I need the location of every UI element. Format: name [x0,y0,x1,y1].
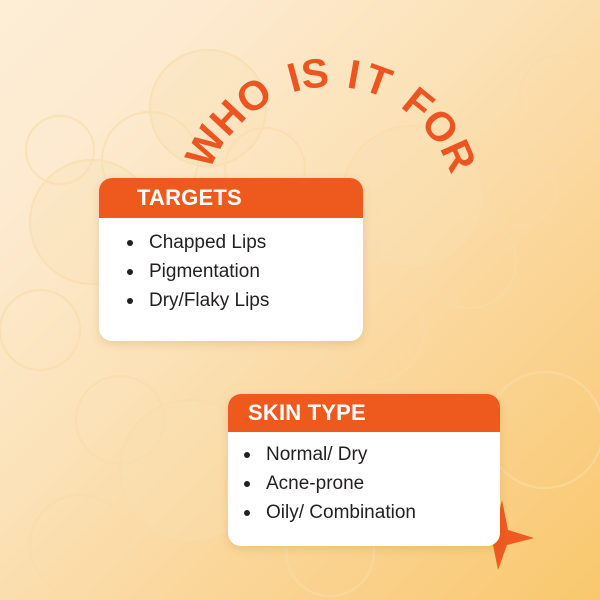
card-skin-type: SKIN TYPE Normal/ Dry Acne-prone Oily/ C… [228,394,500,546]
list-item-label: Normal/ Dry [266,440,500,469]
arc-heading-letter: O [414,102,466,152]
arc-heading-letter: I [345,54,363,96]
list-item: Acne-prone [244,469,500,498]
bullet-icon [127,240,133,246]
list-item: Dry/Flaky Lips [127,286,363,315]
arc-heading-letter: R [433,134,482,178]
list-item-label: Dry/Flaky Lips [149,286,363,315]
list-item-label: Oily/ Combination [266,498,500,527]
arc-heading-letter: O [229,70,278,122]
card-targets-title: TARGETS [137,185,242,211]
list-item-label: Pigmentation [149,257,363,286]
card-skin-type-body: Normal/ Dry Acne-prone Oily/ Combination [228,432,500,535]
arc-heading-letter: H [203,93,253,143]
card-targets: TARGETS Chapped Lips Pigmentation Dry/Fl… [99,178,363,341]
card-skin-type-header: SKIN TYPE [228,394,500,432]
poster-canvas: WHOISITFOR TARGETS Chapped Lips Pigmenta… [0,0,600,600]
arc-heading-letter: T [359,58,397,105]
list-item-label: Acne-prone [266,469,500,498]
arc-heading-letter: S [300,52,331,96]
list-item: Pigmentation [127,257,363,286]
card-skin-type-title: SKIN TYPE [248,400,366,426]
card-targets-header: TARGETS [99,178,363,218]
list-item-label: Chapped Lips [149,228,363,257]
list-item: Chapped Lips [127,228,363,257]
bullet-icon [244,510,250,516]
bullet-icon [127,298,133,304]
card-targets-list: Chapped Lips Pigmentation Dry/Flaky Lips [127,228,363,315]
arc-heading-letter: W [179,121,233,174]
bullet-icon [244,452,250,458]
card-targets-body: Chapped Lips Pigmentation Dry/Flaky Lips [99,218,363,325]
list-item: Oily/ Combination [244,498,500,527]
bullet-icon [127,269,133,275]
bullet-icon [244,481,250,487]
card-skin-type-list: Normal/ Dry Acne-prone Oily/ Combination [244,440,500,527]
arc-heading-letter: F [395,80,440,128]
list-item: Normal/ Dry [244,440,500,469]
arc-heading-letter: I [283,56,305,99]
